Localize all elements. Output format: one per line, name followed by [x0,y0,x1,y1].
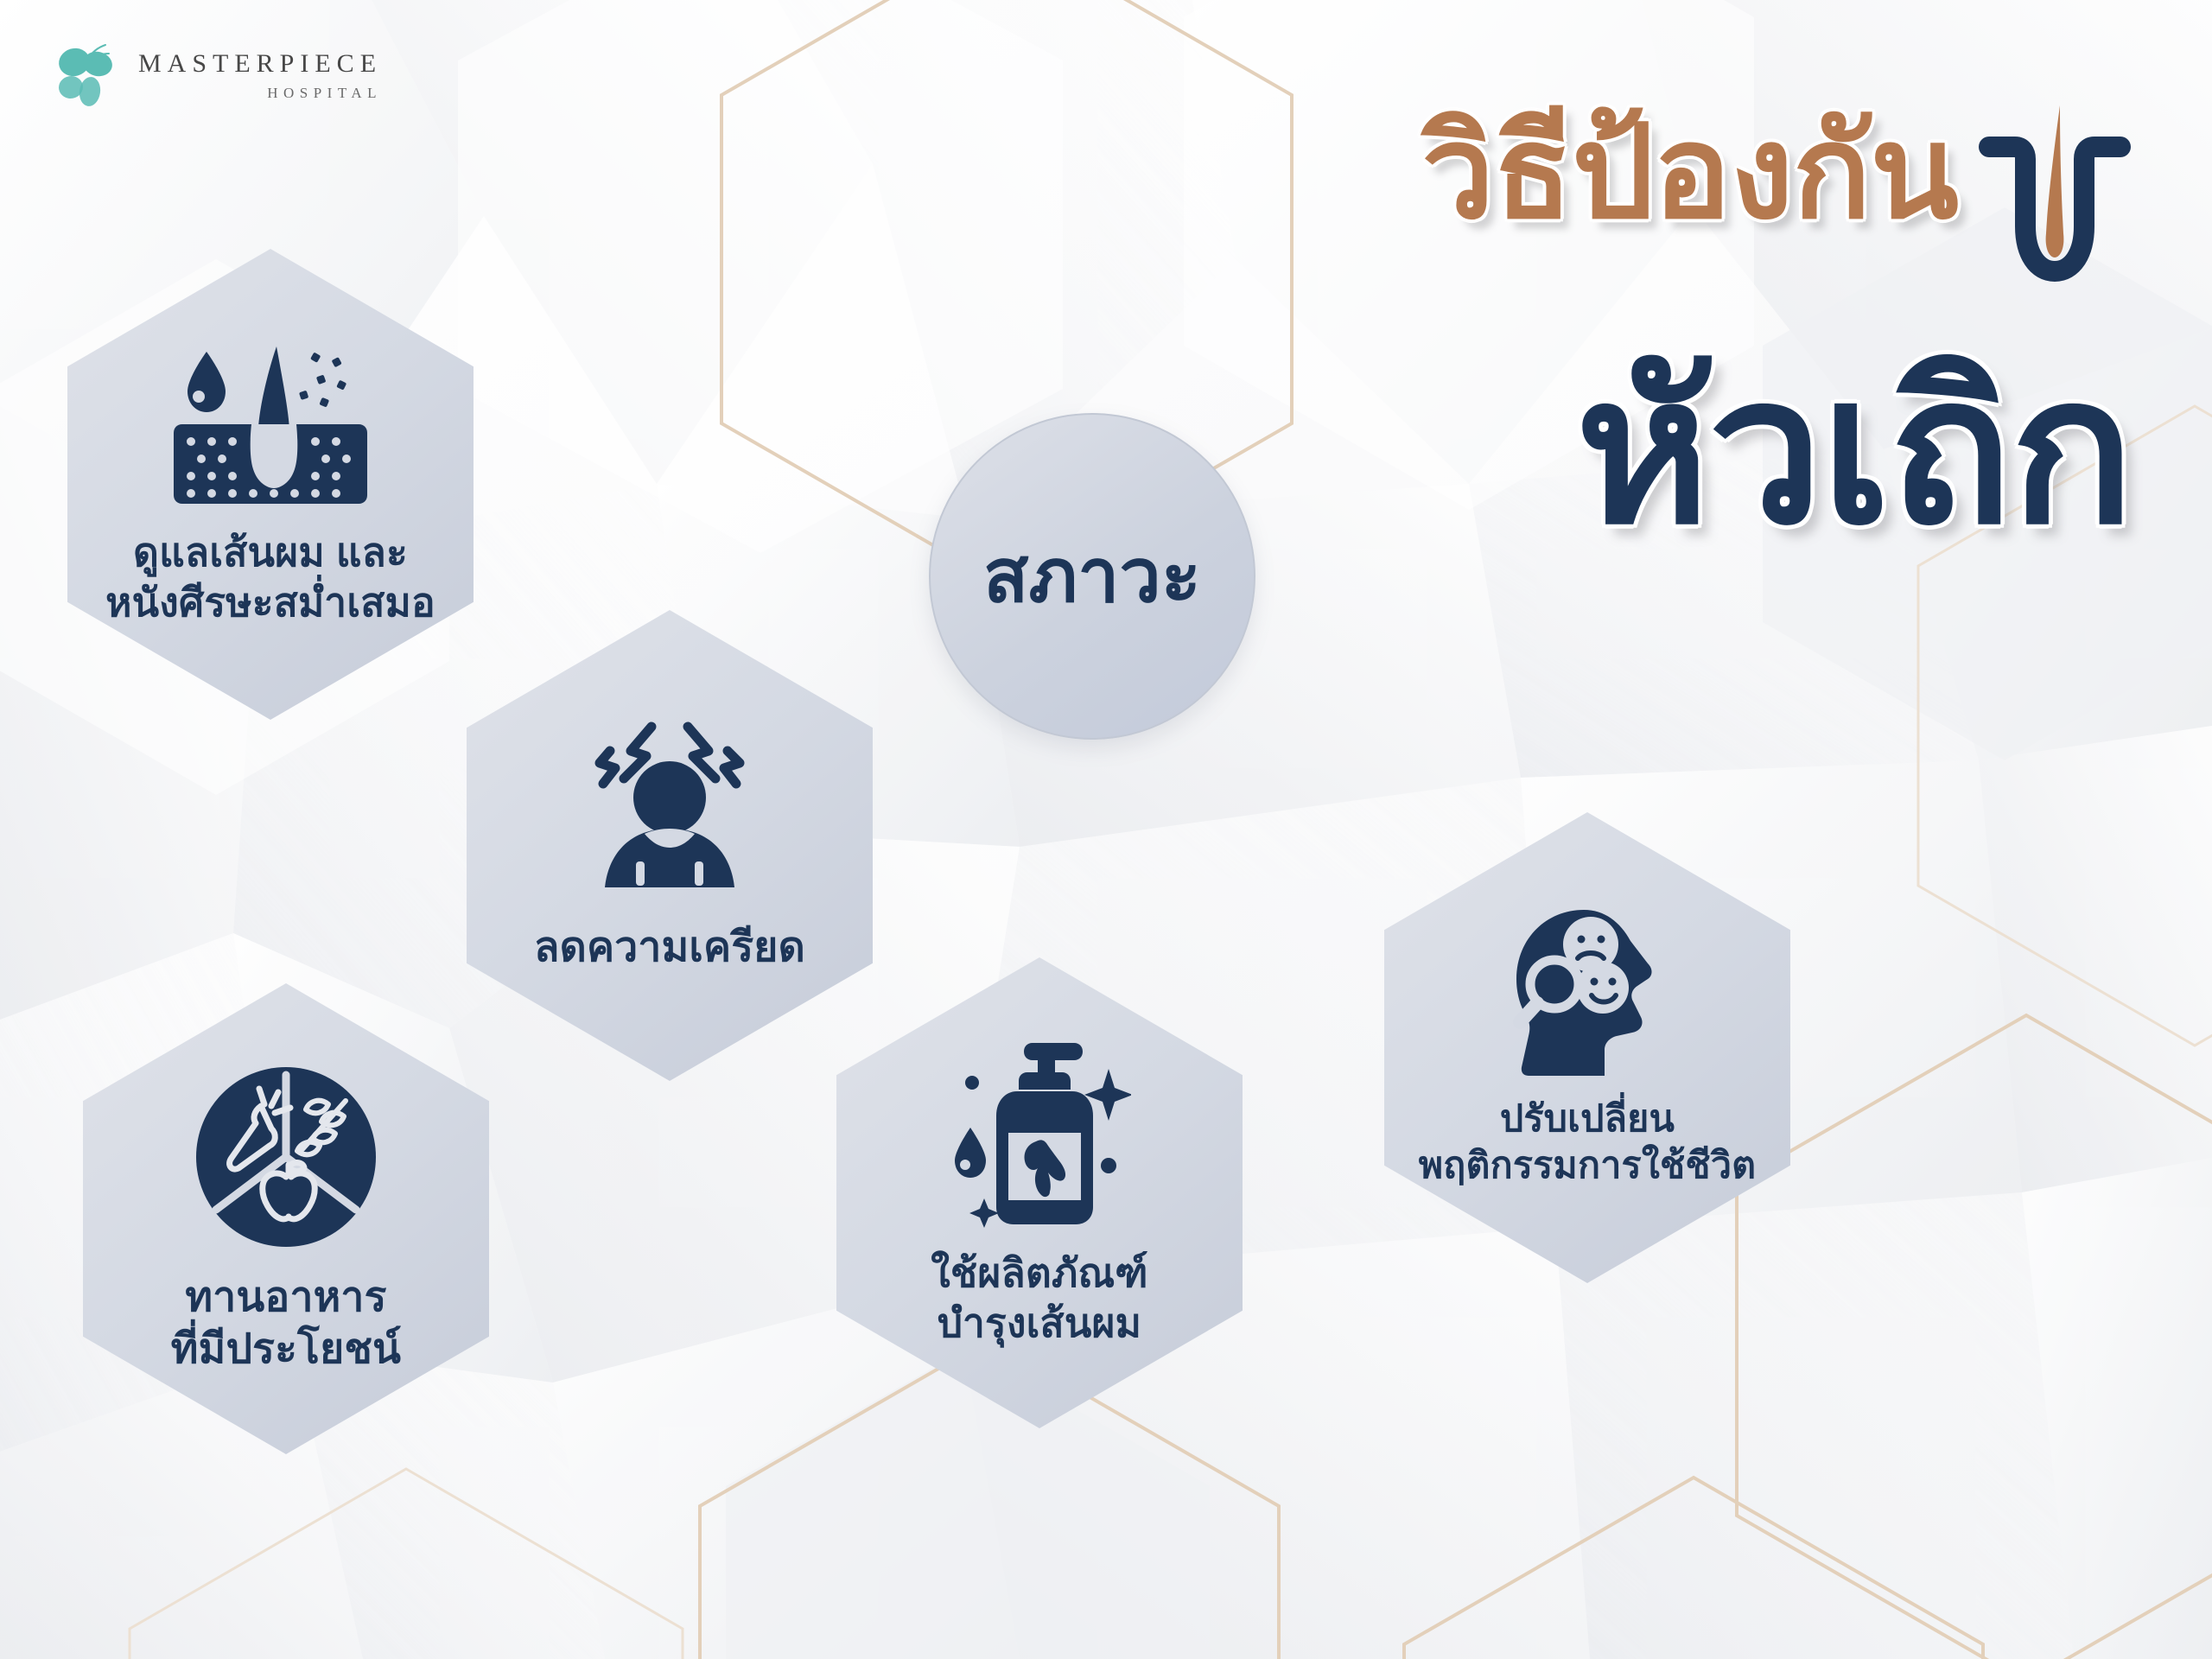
card-label-line: ทานอาหาร [171,1272,401,1324]
card-label-line: ปรับเปลี่ยน [1419,1096,1757,1142]
center-condition-badge: สภาวะ [929,413,1255,740]
card-label-line: ลดความเครียด [534,922,805,974]
butterfly-icon [55,40,123,111]
brand-name: MASTERPIECE [138,51,382,77]
card-label: ใช้ผลิตภัณฑ์ บำรุงเส้นผม [931,1249,1147,1347]
card-label: ลดความเครียด [534,922,805,974]
stressed-person-icon [579,718,760,896]
card-label: ทานอาหาร ที่มีประโยชน์ [171,1272,401,1375]
shampoo-bottle-icon [948,1038,1131,1228]
brand-logo[interactable]: MASTERPIECE HOSPITAL [55,40,382,111]
card-label-line: พฤติกรรมการใช้ชีวิต [1419,1143,1757,1189]
center-badge-label: สภาวะ [983,539,1201,613]
card-label: ปรับเปลี่ยน พฤติกรรมการใช้ชีวิต [1419,1096,1757,1189]
hair-follicle-icon [1977,97,2133,356]
card-label-line: ที่มีประโยชน์ [171,1324,401,1376]
title-line-2: หัวเถิก [1421,349,2133,553]
card-label-line: บำรุงเส้นผม [931,1299,1147,1348]
head-psychology-icon [1501,906,1674,1077]
title-line-1: วิธีป้องกัน [1421,102,1958,242]
healthy-food-circle-icon [192,1063,380,1251]
page-title: วิธีป้องกัน หัวเถิก [1421,102,2133,553]
card-label-line: หนังศีรษะสม่ำเสมอ [105,578,435,627]
card-label-line: ดูแลเส้นผม และ [105,528,435,577]
card-label-line: ใช้ผลิตภัณฑ์ [931,1249,1147,1298]
card-label: ดูแลเส้นผม และ หนังศีรษะสม่ำเสมอ [105,528,435,626]
brand-subtitle: HOSPITAL [138,86,382,100]
hair-follicle-skin-icon [168,341,372,505]
